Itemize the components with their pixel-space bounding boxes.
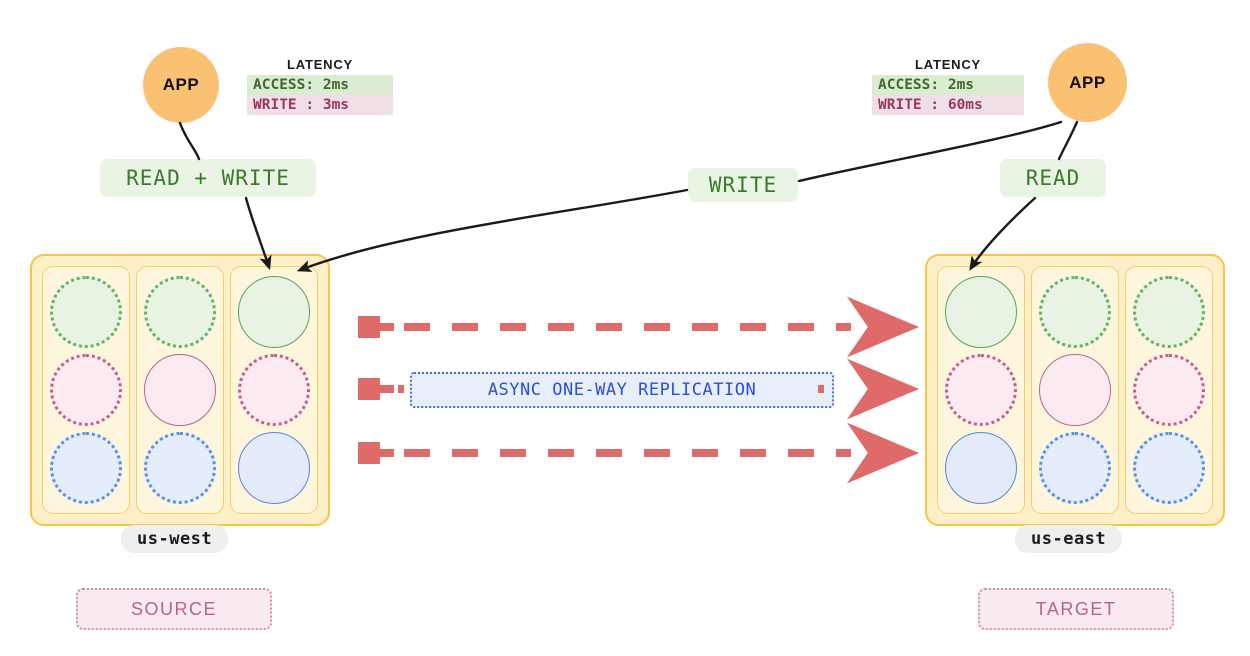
app-node-left-label: APP [163, 75, 199, 95]
node-green-dotted[interactable] [144, 276, 216, 348]
node-blue-solid[interactable] [945, 432, 1017, 504]
role-tag-source-text: SOURCE [131, 599, 217, 620]
latency-table-right: LATENCY ACCESS: 2ms WRITE : 60ms [872, 57, 1024, 115]
node-blue-dotted[interactable] [144, 432, 216, 504]
replication-source-marker [358, 316, 380, 338]
node-pink-solid[interactable] [144, 354, 216, 426]
latency-title-right: LATENCY [872, 57, 1024, 72]
node-pink-dotted[interactable] [238, 354, 310, 426]
write-label-center[interactable]: WRITE [688, 168, 798, 202]
replication-stub [380, 449, 394, 457]
node-pink-dotted[interactable] [945, 354, 1017, 426]
region-column-2 [136, 266, 224, 514]
region-cluster-us-east[interactable] [925, 254, 1225, 526]
operation-label-left-text: READ + WRITE [126, 166, 290, 190]
role-tag-target-text: TARGET [1036, 599, 1117, 620]
latency-write-left: WRITE : 3ms [247, 95, 393, 115]
latency-write-right: WRITE : 60ms [872, 95, 1024, 115]
app-node-right[interactable]: APP [1048, 43, 1127, 122]
node-green-solid-replica[interactable] [945, 276, 1017, 348]
region-column-3 [1125, 266, 1213, 514]
node-pink-dotted[interactable] [1133, 354, 1205, 426]
node-green-dotted[interactable] [1039, 276, 1111, 348]
latency-access-right: ACCESS: 2ms [872, 75, 1024, 95]
app-node-left[interactable]: APP [143, 47, 219, 123]
connector-app-right-to-operation [1059, 122, 1077, 159]
replication-stub [380, 385, 394, 393]
region-column-2 [1031, 266, 1119, 514]
node-blue-solid[interactable] [238, 432, 310, 504]
region-column-3 [230, 266, 318, 514]
region-column-1 [42, 266, 130, 514]
node-green-dotted[interactable] [1133, 276, 1205, 348]
latency-title-left: LATENCY [247, 57, 393, 72]
replication-source-marker [358, 378, 380, 400]
region-tag-us-east: us-east [1015, 525, 1122, 553]
node-blue-dotted[interactable] [1133, 432, 1205, 504]
replication-label-text: ASYNC ONE-WAY REPLICATION [488, 380, 756, 400]
operation-label-right-text: READ [1026, 166, 1081, 190]
region-tag-us-east-text: us-east [1031, 529, 1106, 549]
connector-app-left-to-operation [180, 123, 199, 159]
latency-access-left: ACCESS: 2ms [247, 75, 393, 95]
node-blue-dotted[interactable] [50, 432, 122, 504]
node-green-solid-primary[interactable] [238, 276, 310, 348]
operation-label-right[interactable]: READ [1000, 159, 1106, 197]
write-label-center-text: WRITE [709, 173, 777, 197]
region-tag-us-west: us-west [121, 525, 228, 553]
region-cluster-us-west[interactable] [30, 254, 330, 526]
node-pink-solid[interactable] [1039, 354, 1111, 426]
diagram-canvas: APP LATENCY ACCESS: 2ms WRITE : 3ms READ… [0, 0, 1250, 656]
app-node-right-label: APP [1069, 73, 1105, 93]
replication-source-marker [358, 442, 380, 464]
latency-table-left: LATENCY ACCESS: 2ms WRITE : 3ms [247, 57, 393, 115]
replication-label[interactable]: ASYNC ONE-WAY REPLICATION [410, 372, 834, 408]
role-tag-target: TARGET [978, 588, 1174, 630]
region-tag-us-west-text: us-west [137, 529, 212, 549]
replication-stub [380, 323, 394, 331]
node-green-dotted[interactable] [50, 276, 122, 348]
region-column-1 [937, 266, 1025, 514]
role-tag-source: SOURCE [76, 588, 272, 630]
node-blue-dotted[interactable] [1039, 432, 1111, 504]
node-pink-dotted[interactable] [50, 354, 122, 426]
connector-write-label-to-node-left [300, 190, 687, 270]
operation-label-left[interactable]: READ + WRITE [100, 159, 316, 197]
